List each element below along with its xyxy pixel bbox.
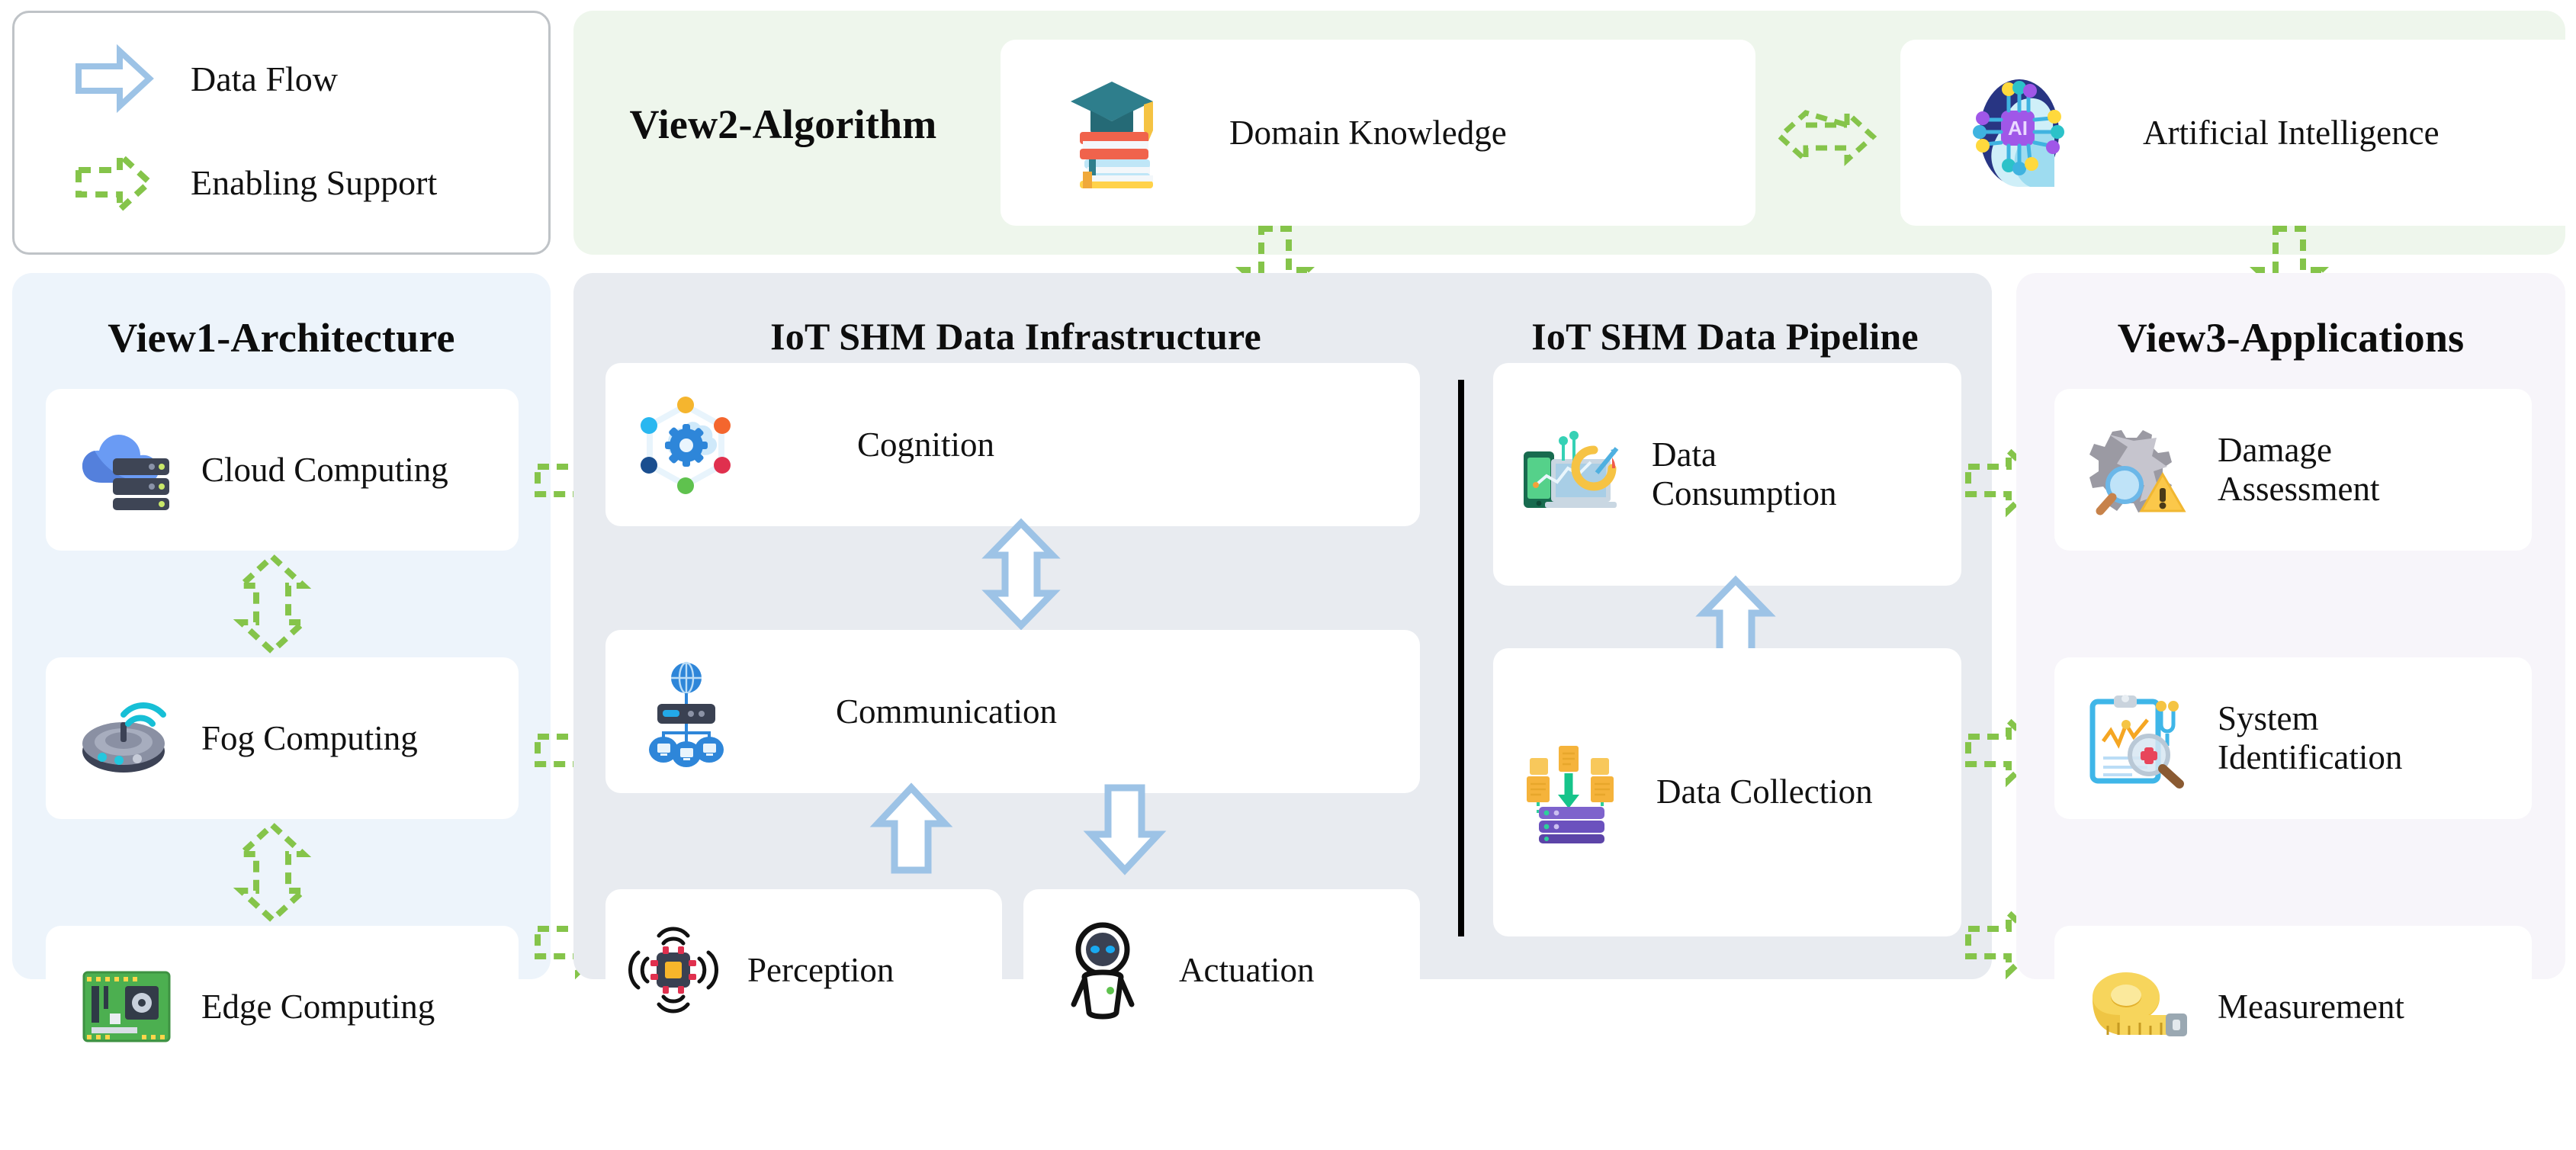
- card-label-communication: Communication: [836, 692, 1057, 731]
- view2-algorithm-panel: View2-Algorithm: [573, 11, 2565, 255]
- view3-applications-panel: View3-Applications Damage Assessment: [2016, 273, 2565, 979]
- card-label-system-identification: System Identification: [2218, 699, 2477, 778]
- analytics-laptop-phone-icon: [1521, 432, 1624, 517]
- card-data-collection[interactable]: Data Collection: [1493, 648, 1961, 936]
- card-label-perception: Perception: [747, 951, 894, 989]
- legend-label-enabling-support: Enabling Support: [191, 162, 437, 203]
- card-label-data-consumption: Data Consumption: [1652, 435, 1881, 514]
- legend-box: Data Flow Enabling Support: [12, 11, 551, 255]
- up-solid-blue-arrow-perception-communication: [872, 784, 950, 874]
- dashed-green-arrow-icon: [74, 149, 154, 216]
- view3-title: View3-Applications: [2016, 314, 2565, 361]
- clipboard-stethoscope-magnifier-icon: [2086, 691, 2190, 785]
- vertical-bidirectional-solid-blue-arrow-cognition-communication: [982, 520, 1060, 628]
- card-label-measurement: Measurement: [2218, 988, 2404, 1026]
- cognition-hexagon-gear-icon: [636, 395, 735, 494]
- tape-measure-icon: [2086, 965, 2190, 1049]
- card-data-consumption[interactable]: Data Consumption: [1493, 363, 1961, 586]
- diagram-canvas: Data Flow Enabling Support View2-Algorit…: [0, 0, 2576, 991]
- ai-brain-chip-icon: AI: [1966, 75, 2073, 190]
- view1-title: View1-Architecture: [12, 314, 551, 361]
- card-measurement[interactable]: Measurement: [2054, 926, 2532, 1087]
- vertical-bidirectional-dashed-green-arrow-cloud-fog: [233, 554, 311, 654]
- svg-text:AI: AI: [2008, 117, 2028, 140]
- card-cognition[interactable]: Cognition: [605, 363, 1420, 526]
- sensor-chip-signal-icon: [622, 922, 724, 1018]
- card-label-fog-computing: Fog Computing: [201, 719, 418, 757]
- card-label-cognition: Cognition: [857, 426, 994, 464]
- documents-database-icon: [1521, 741, 1623, 843]
- infrastructure-title: IoT SHM Data Infrastructure: [573, 314, 1458, 358]
- robot-icon: [1057, 920, 1148, 1020]
- card-edge-computing[interactable]: Edge Computing: [46, 926, 519, 1087]
- vertical-bidirectional-dashed-green-arrow-fog-edge: [233, 822, 311, 923]
- card-domain-knowledge[interactable]: Domain Knowledge: [1001, 40, 1755, 226]
- card-system-identification[interactable]: System Identification: [2054, 657, 2532, 819]
- card-artificial-intelligence[interactable]: AI Artificial Intelligence: [1900, 40, 2576, 226]
- card-label-domain-knowledge: Domain Knowledge: [1229, 114, 1507, 152]
- pipeline-title: IoT SHM Data Pipeline: [1458, 314, 1992, 358]
- card-cloud-computing[interactable]: Cloud Computing: [46, 389, 519, 551]
- card-label-edge-computing: Edge Computing: [201, 988, 435, 1026]
- card-communication[interactable]: Communication: [605, 630, 1420, 793]
- bidirectional-dashed-green-arrow-algorithm: [1777, 102, 1876, 171]
- books-graduation-cap-icon: [1063, 75, 1161, 190]
- circuit-board-icon: [79, 965, 175, 1049]
- card-label-cloud-computing: Cloud Computing: [201, 451, 448, 489]
- card-label-artificial-intelligence: Artificial Intelligence: [2143, 114, 2439, 152]
- card-label-data-collection: Data Collection: [1656, 773, 1873, 811]
- legend-label-data-flow: Data Flow: [191, 59, 338, 99]
- card-damage-assessment[interactable]: Damage Assessment: [2054, 389, 2532, 551]
- card-fog-computing[interactable]: Fog Computing: [46, 657, 519, 819]
- card-label-actuation: Actuation: [1179, 951, 1314, 989]
- legend-item-enabling-support: Enabling Support: [74, 149, 437, 216]
- card-actuation[interactable]: Actuation: [1023, 889, 1420, 1051]
- legend-item-data-flow: Data Flow: [74, 45, 338, 112]
- up-solid-blue-arrow-collection-consumption: [1698, 577, 1773, 656]
- view2-title: View2-Algorithm: [604, 101, 962, 148]
- fog-router-wifi-icon: [79, 696, 175, 780]
- down-solid-blue-arrow-communication-actuation: [1086, 784, 1164, 874]
- cloud-server-icon: [79, 428, 175, 512]
- gears-magnifier-warning-icon: [2086, 424, 2190, 516]
- middle-panel: IoT SHM Data Infrastructure IoT SHM Data…: [573, 273, 1992, 979]
- solid-blue-arrow-icon: [74, 45, 154, 112]
- card-label-damage-assessment: Damage Assessment: [2218, 431, 2469, 509]
- network-globe-devices-icon: [636, 661, 737, 762]
- view1-architecture-panel: View1-Architecture Cloud Computing: [12, 273, 551, 979]
- panel-divider: [1458, 380, 1464, 936]
- card-perception[interactable]: Perception: [605, 889, 1002, 1051]
